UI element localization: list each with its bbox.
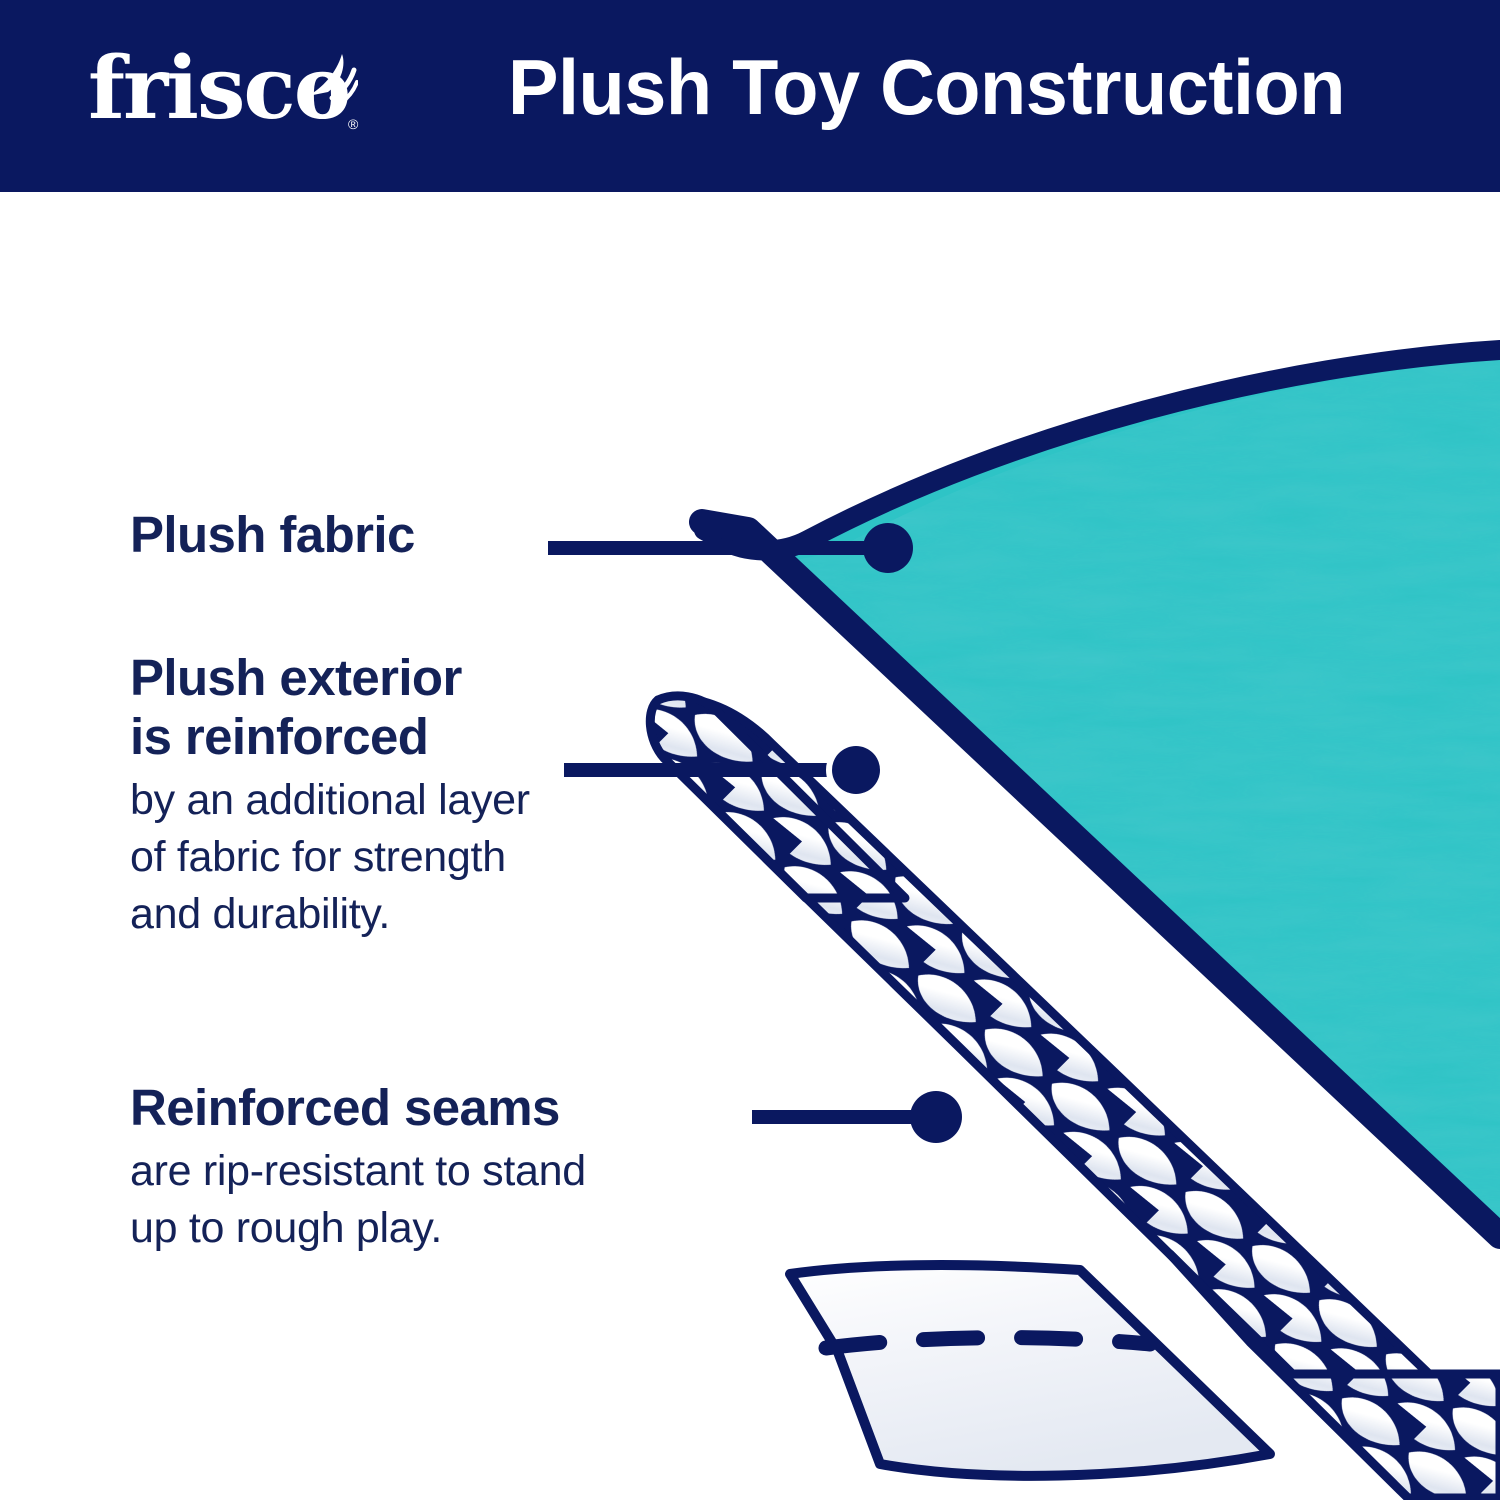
callout-reinforced-seams-body: are rip-resistant to stand up to rough p… [130,1143,810,1257]
plush-exterior-dot [832,746,880,794]
callout-reinforced-seams: Reinforced seams are rip-resistant to st… [130,1078,810,1257]
callout-plush-exterior-heading: Plush exterior is reinforced [130,648,730,766]
header-band: frisco ® Plush Toy Construction [0,0,1500,192]
page-title: Plush Toy Construction [508,42,1345,133]
reinforced-seams-dot [910,1091,962,1143]
callout-plush-exterior: Plush exterior is reinforced by an addit… [130,648,730,943]
callout-plush-fabric-heading: Plush fabric [130,505,600,564]
seam-flap-layer [790,1265,1270,1476]
frisco-logo: frisco ® [88,44,388,144]
callout-plush-exterior-body: by an additional layer of fabric for str… [130,772,730,942]
registered-trademark-icon: ® [348,116,358,132]
callout-reinforced-seams-heading: Reinforced seams [130,1078,810,1137]
callout-plush-fabric: Plush fabric [130,505,600,564]
plush-fabric-dot [863,523,913,573]
frisco-logo-swoosh-icon [302,48,358,104]
